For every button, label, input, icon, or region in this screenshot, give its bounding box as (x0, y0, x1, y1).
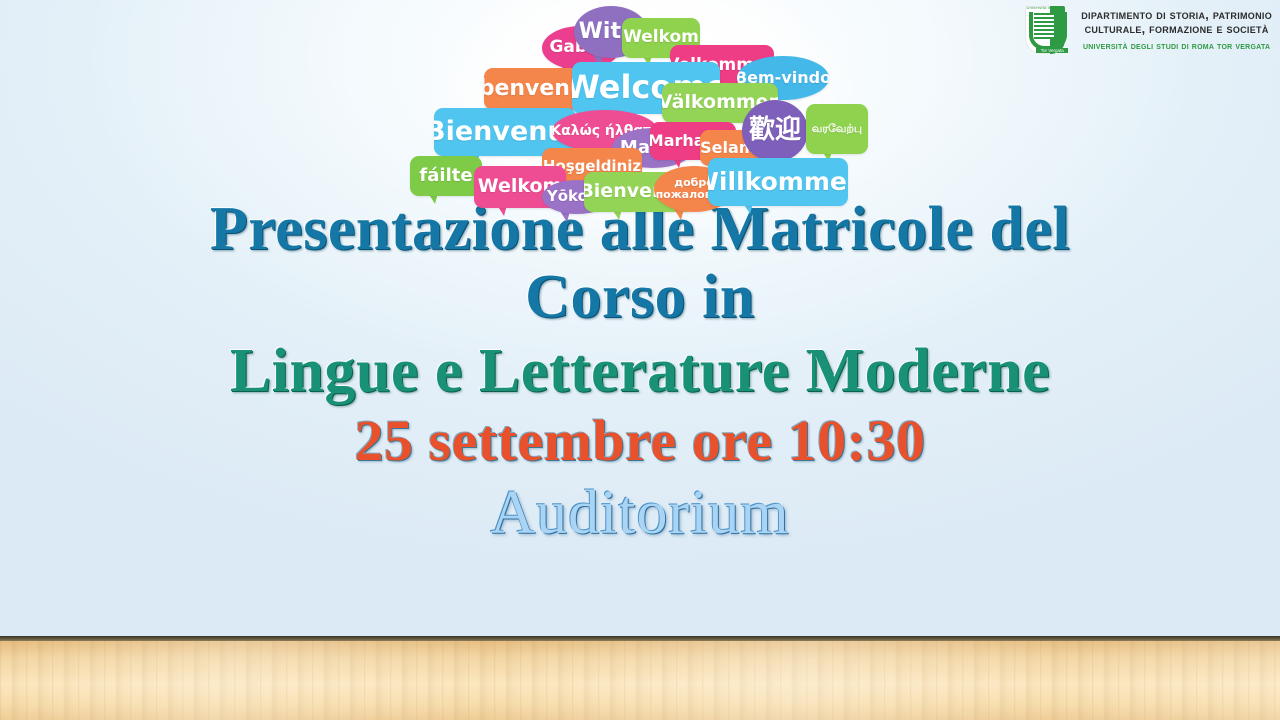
speech-bubble-label: Willkommen (708, 169, 848, 195)
speech-bubble-label: 歡迎 (743, 117, 807, 144)
speech-bubble: வரவேற்பு (806, 104, 868, 154)
wood-floor (0, 636, 1280, 720)
university-name: Università degli studi di Roma Tor Verga… (1081, 41, 1272, 52)
floor-sheen (0, 641, 1280, 720)
tor-vergata-university-crest-icon: Università di Roma Tor Vergata (1021, 4, 1069, 56)
speech-bubble-label: fáilte (413, 167, 478, 186)
slide-text-block: Presentazione alle Matricole del Corso i… (0, 198, 1280, 544)
speech-bubble: Willkommen (708, 158, 848, 206)
course-name: Lingue e Letterature Moderne (0, 340, 1280, 402)
presentation-slide: GabitėWitajWelkomVelkommenBem-vindobenve… (0, 0, 1280, 720)
speech-bubble-label: வரவேற்பு (806, 123, 868, 135)
speech-bubble: 歡迎 (742, 100, 808, 162)
department-line-1: Dipartimento di storia, patrimonio (1081, 8, 1272, 23)
crest-stripes (1034, 13, 1054, 39)
crest-top-label: Università di Roma (1021, 5, 1069, 10)
department-header: Università di Roma Tor Vergata Dipartime… (1021, 4, 1272, 56)
page-title-line-2: Corso in (0, 266, 1280, 328)
speech-bubble: fáilte (410, 156, 482, 196)
department-title-block: Dipartimento di storia, patrimonio cultu… (1081, 8, 1272, 53)
event-datetime: 25 settembre ore 10:30 (0, 412, 1280, 470)
multilingual-welcome-graphic: GabitėWitajWelkomVelkommenBem-vindobenve… (412, 0, 872, 218)
crest-bottom-label: Tor Vergata (1036, 48, 1068, 53)
department-line-2: culturale, formazione e società (1081, 22, 1272, 37)
event-venue: Auditorium (0, 482, 1280, 544)
